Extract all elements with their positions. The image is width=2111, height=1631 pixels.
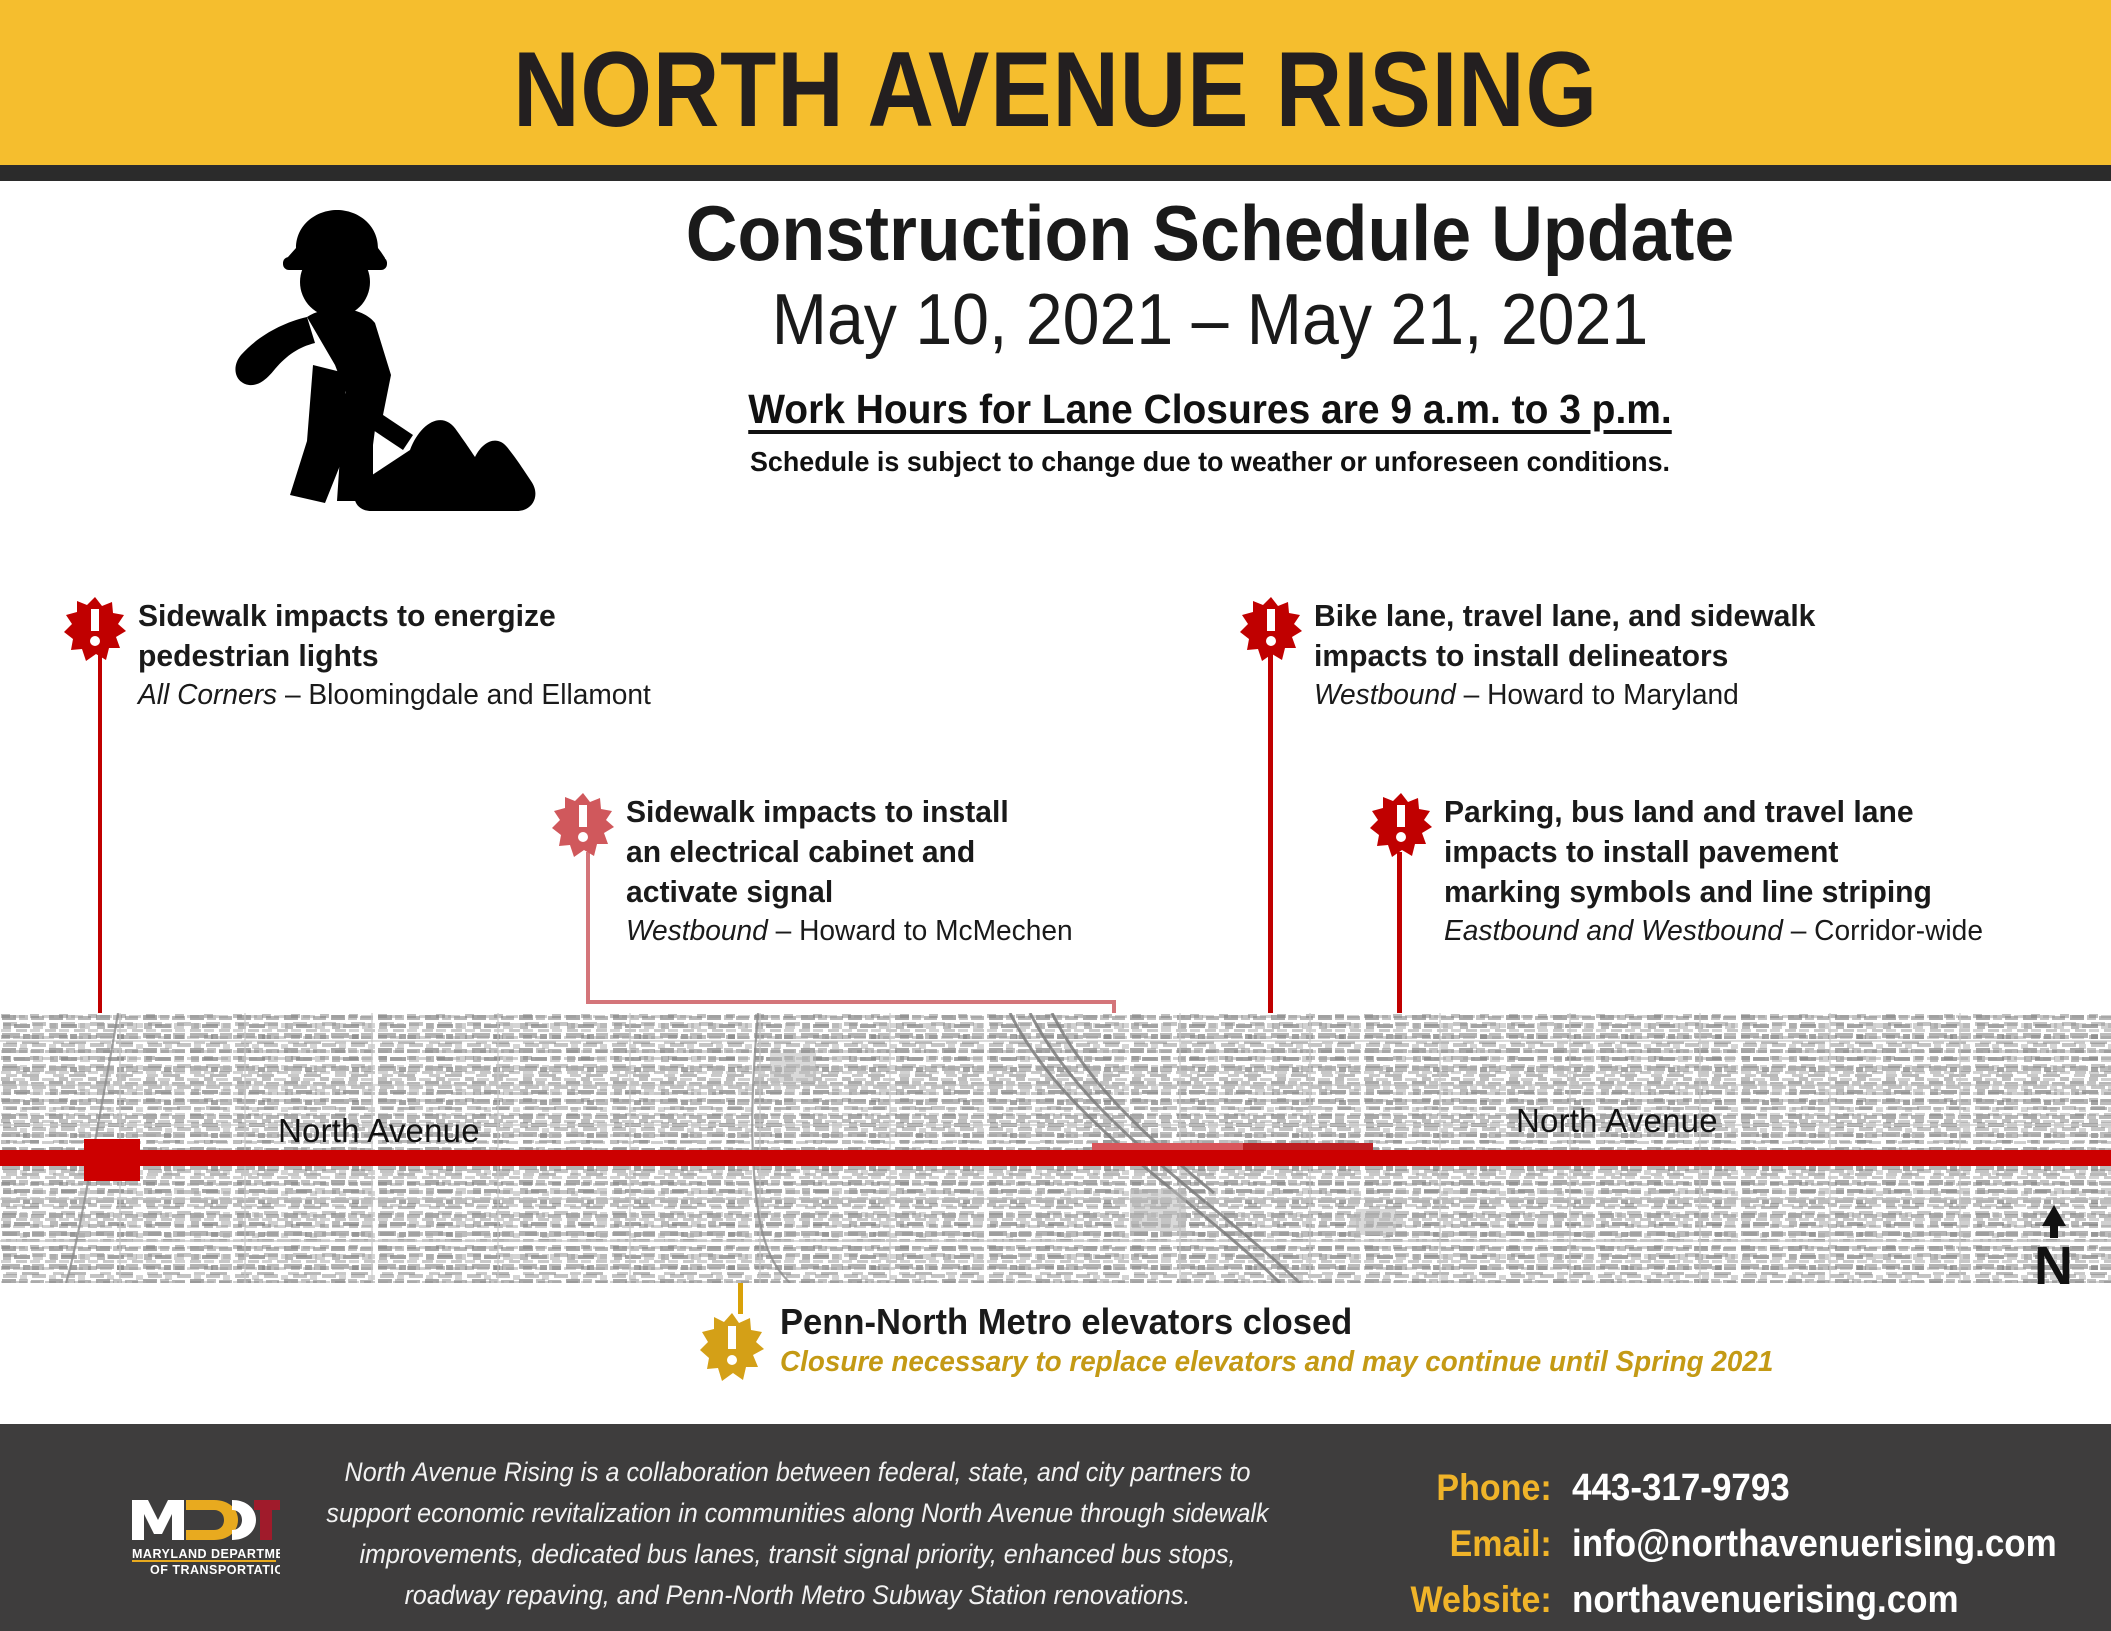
callout-title-line2: pedestrian lights bbox=[138, 636, 803, 676]
callout-title-line2: an electrical cabinet and bbox=[626, 832, 1097, 872]
callout-location-rest: – Bloomingdale and Ellamont bbox=[277, 679, 651, 711]
construction-worker-icon bbox=[195, 205, 555, 525]
contact-value-phone[interactable]: 443-317-9793 bbox=[1572, 1462, 1790, 1514]
metro-title: Penn-North Metro elevators closed bbox=[780, 1300, 1773, 1344]
compass-rose: N bbox=[2018, 1204, 2089, 1631]
alert-burst-icon bbox=[1370, 792, 1432, 858]
title-banner: NORTH AVENUE RISING bbox=[0, 0, 2111, 165]
callout-pedestrian-lights: Sidewalk impacts to energize pedestrian … bbox=[64, 596, 824, 714]
callout-location: Westbound – Howard to McMechen bbox=[626, 912, 1097, 950]
contact-label-website: Website: bbox=[1368, 1574, 1572, 1626]
callout-location: Eastbound and Westbound – Corridor-wide bbox=[1444, 912, 2051, 950]
poster-root: NORTH AVENUE RISING bbox=[0, 0, 2111, 1631]
callout-title-line3: marking symbols and line striping bbox=[1444, 872, 2051, 912]
page-title: Construction Schedule Update bbox=[575, 190, 1845, 276]
callout-location-rest: – Howard to McMechen bbox=[768, 915, 1073, 947]
callout-location: All Corners – Bloomingdale and Ellamont bbox=[138, 676, 803, 714]
contact-value-email[interactable]: info@northavenuerising.com bbox=[1572, 1518, 2057, 1570]
date-range: May 10, 2021 – May 21, 2021 bbox=[575, 278, 1845, 362]
road-endpoint-west bbox=[84, 1139, 140, 1181]
callout-location-emphasis: All Corners bbox=[138, 679, 277, 711]
alert-burst-icon bbox=[700, 1312, 764, 1382]
callout-electrical-cabinet: Sidewalk impacts to install an electrica… bbox=[552, 792, 1112, 950]
callout-location-emphasis: Westbound bbox=[626, 915, 768, 947]
map-label-north-avenue-left: North Avenue bbox=[278, 1113, 480, 1149]
map-label-north-avenue-right: North Avenue bbox=[1516, 1103, 1718, 1139]
contact-label-phone: Phone: bbox=[1368, 1462, 1572, 1514]
contact-label-email: Email: bbox=[1368, 1518, 1572, 1570]
connector-elbow-electrical-cabinet bbox=[586, 1000, 1116, 1004]
callout-penn-north-metro: Penn-North Metro elevators closed Closur… bbox=[700, 1300, 1815, 1380]
callout-location-rest: – Corridor-wide bbox=[1783, 915, 1983, 947]
callout-location-emphasis: Eastbound and Westbound bbox=[1444, 915, 1783, 947]
header-block: Construction Schedule Update May 10, 202… bbox=[520, 190, 1900, 480]
contact-row-email: Email: info@northavenuerising.com bbox=[1350, 1518, 2099, 1570]
footer-description: North Avenue Rising is a collaboration b… bbox=[316, 1452, 1279, 1616]
north-avenue-road-line bbox=[0, 1150, 2111, 1166]
poster-title: NORTH AVENUE RISING bbox=[148, 36, 1963, 143]
contact-row-website: Website: northavenuerising.com bbox=[1350, 1574, 2099, 1626]
alert-burst-icon bbox=[1240, 596, 1302, 662]
callout-title-line1: Bike lane, travel lane, and sidewalk bbox=[1314, 596, 2038, 636]
callout-title-line1: Sidewalk impacts to energize bbox=[138, 596, 803, 636]
callout-location-rest: – Howard to Maryland bbox=[1456, 679, 1739, 711]
contact-value-website[interactable]: northavenuerising.com bbox=[1572, 1574, 1959, 1626]
callout-location: Westbound – Howard to Maryland bbox=[1314, 676, 2038, 714]
callout-title-line1: Sidewalk impacts to install bbox=[626, 792, 1097, 832]
work-hours-note: Work Hours for Lane Closures are 9 a.m. … bbox=[555, 384, 1866, 434]
svg-text:OF TRANSPORTATION: OF TRANSPORTATION bbox=[150, 1563, 280, 1577]
svg-text:MARYLAND DEPARTMENT: MARYLAND DEPARTMENT bbox=[132, 1547, 280, 1561]
callout-pavement-marking: Parking, bus land and travel lane impact… bbox=[1370, 792, 2070, 950]
callout-location-emphasis: Westbound bbox=[1314, 679, 1456, 711]
callout-title-line3: activate signal bbox=[626, 872, 1097, 912]
mdot-logo: MARYLAND DEPARTMENT OF TRANSPORTATION bbox=[128, 1492, 280, 1578]
alert-burst-icon bbox=[64, 596, 126, 662]
schedule-disclaimer: Schedule is subject to change due to wea… bbox=[548, 444, 1873, 480]
banner-divider bbox=[0, 165, 2111, 181]
callout-title-line2: impacts to install delineators bbox=[1314, 636, 2038, 676]
callout-title-line2: impacts to install pavement bbox=[1444, 832, 2051, 872]
contact-row-phone: Phone: 443-317-9793 bbox=[1350, 1462, 2099, 1514]
contact-block: Phone: 443-317-9793 Email: info@northave… bbox=[1350, 1462, 2099, 1630]
alert-burst-icon bbox=[552, 792, 614, 858]
callout-title-line1: Parking, bus land and travel lane bbox=[1444, 792, 2051, 832]
callout-delineators: Bike lane, travel lane, and sidewalk imp… bbox=[1240, 596, 2060, 714]
north-arrow-icon bbox=[2032, 1204, 2076, 1238]
metro-note: Closure necessary to replace elevators a… bbox=[780, 1344, 1773, 1380]
compass-letter: N bbox=[2018, 1243, 2089, 1289]
